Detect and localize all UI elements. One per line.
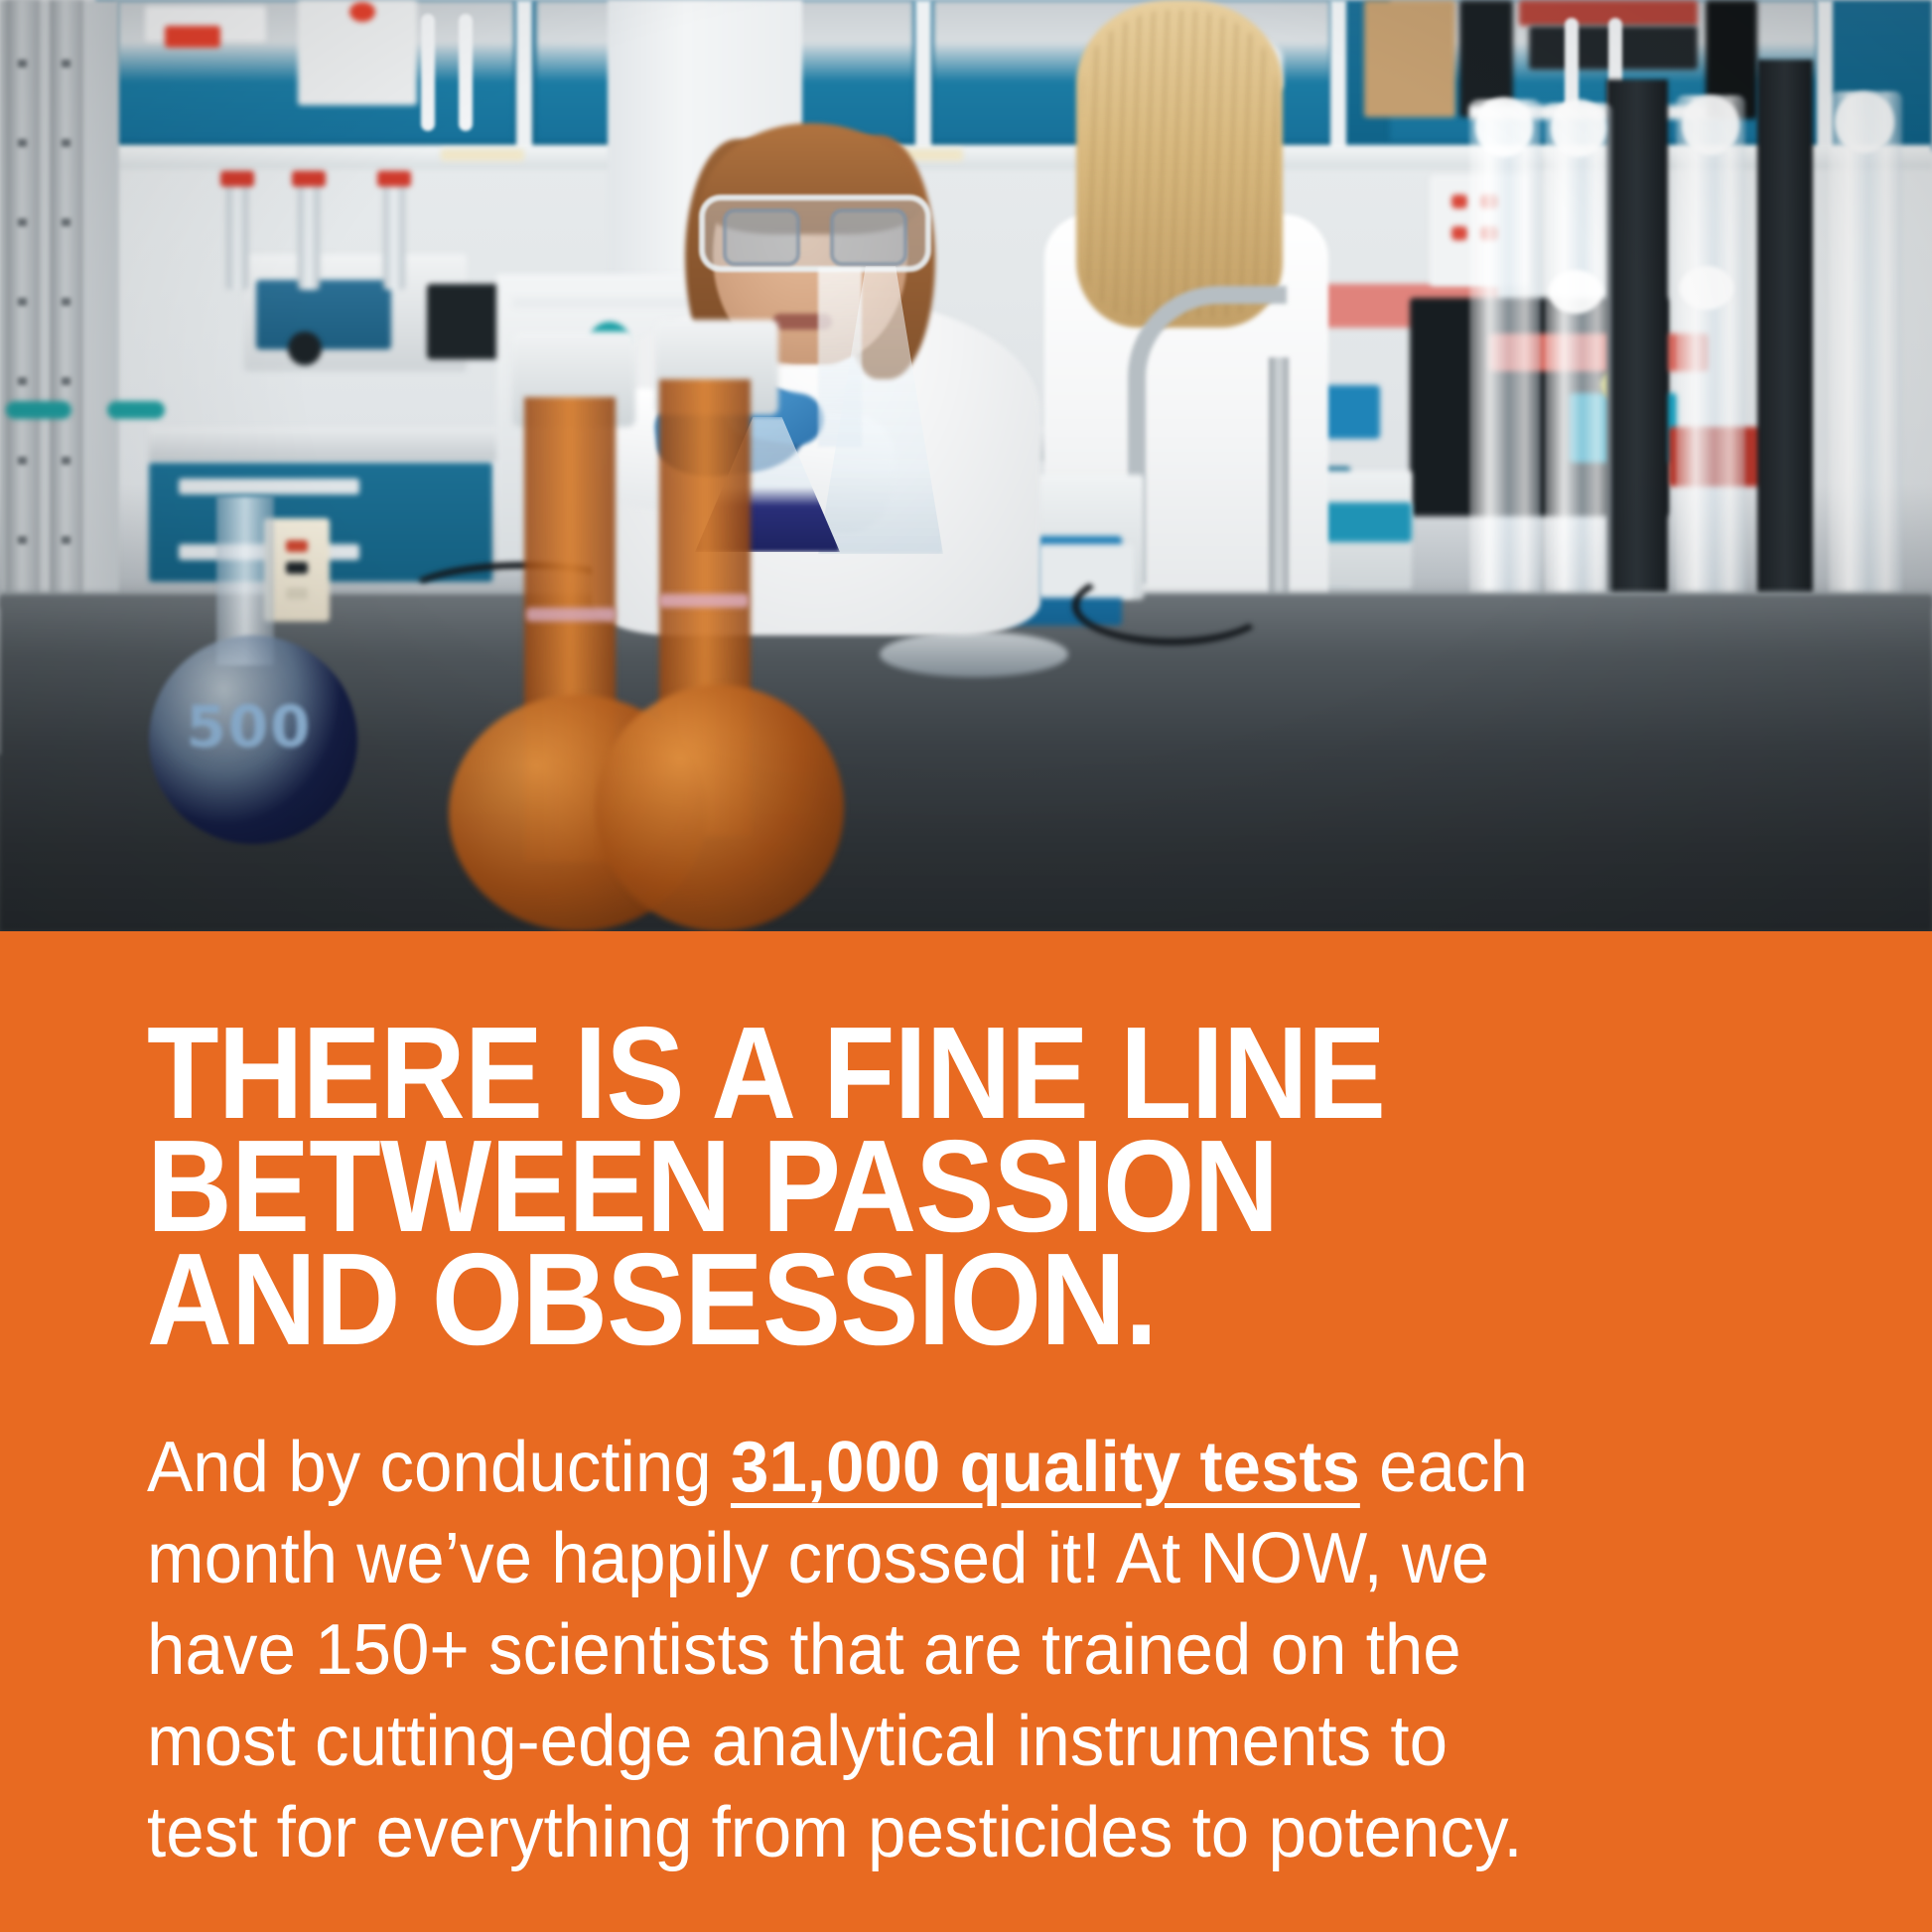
panel-content: THERE IS A FINE LINE BETWEEN PASSION AND… bbox=[147, 931, 1835, 1878]
laboratory-photo: 500 bbox=[0, 0, 1932, 931]
photo-vignette bbox=[0, 0, 1932, 931]
poster: 500 THERE IS A FINE LINE BETWEEN PASSION… bbox=[0, 0, 1932, 1932]
body-text-before: And by conducting bbox=[147, 1428, 731, 1507]
headline-line-3: AND OBSESSION. bbox=[147, 1243, 1666, 1356]
headline: THERE IS A FINE LINE BETWEEN PASSION AND… bbox=[147, 1017, 1666, 1356]
quality-tests-emphasis: 31,000 quality tests bbox=[731, 1428, 1360, 1507]
orange-content-panel: THERE IS A FINE LINE BETWEEN PASSION AND… bbox=[0, 931, 1932, 1932]
body-paragraph: And by conducting 31,000 quality tests e… bbox=[147, 1422, 1558, 1878]
